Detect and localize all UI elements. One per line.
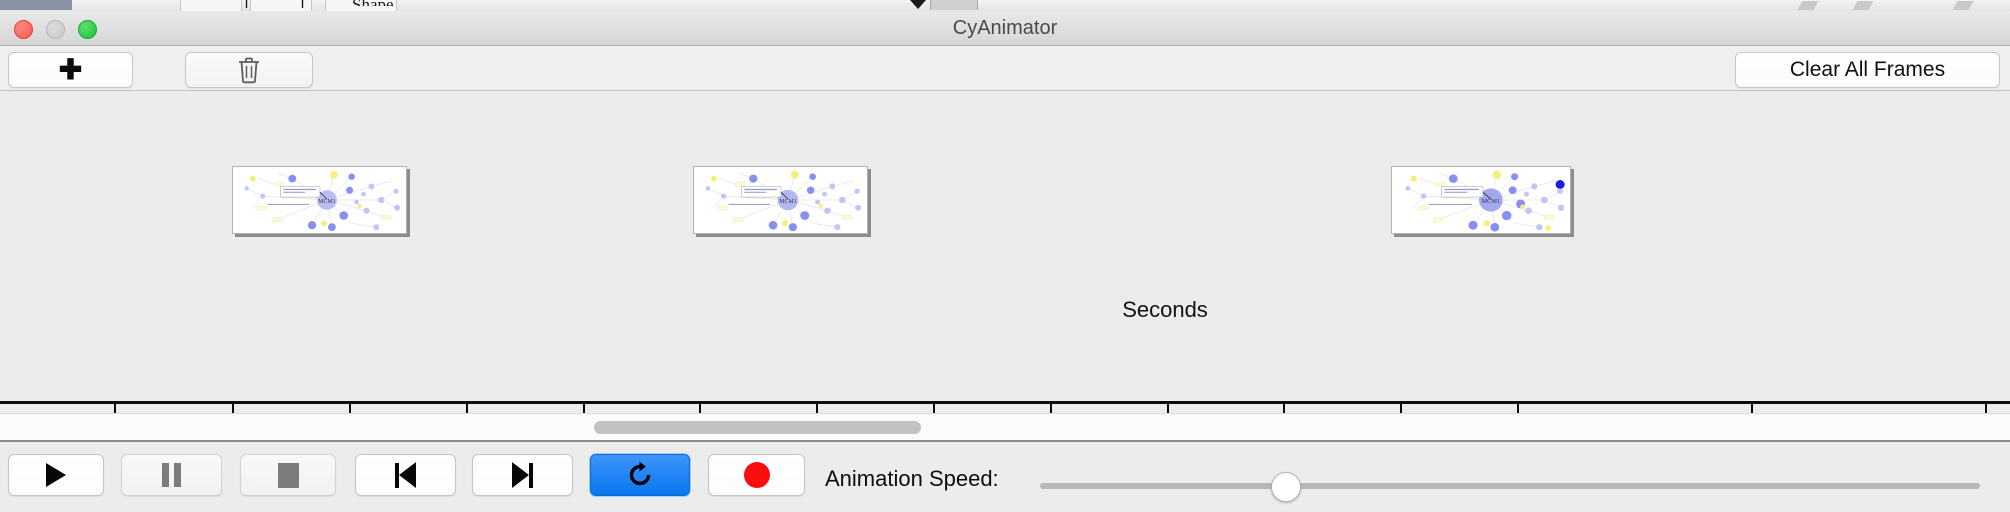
axis-minor-tick: [1050, 404, 1052, 413]
trash-icon: [237, 56, 261, 84]
background-tab: [180, 0, 242, 11]
axis-major-tick: [1400, 404, 1402, 413]
background-slash: [1798, 1, 1819, 10]
axis-minor-tick: [1751, 404, 1753, 413]
axis-minor-tick: [349, 404, 351, 413]
axis-title: Seconds: [1122, 297, 1208, 323]
timeline-panel[interactable]: MCM1: [0, 91, 2010, 413]
background-window-label: Shape: [352, 0, 394, 6]
background-slash: [1953, 1, 1974, 10]
loop-button[interactable]: [590, 454, 690, 496]
background-glyph: I: [300, 0, 305, 8]
record-icon: [744, 462, 770, 488]
axis-major-tick: [1167, 404, 1169, 413]
skip-back-icon: [395, 462, 416, 488]
delete-frame-button[interactable]: [185, 52, 313, 88]
playback-control-bar: Animation Speed:: [0, 440, 2010, 512]
loop-icon: [625, 460, 655, 490]
add-frame-button[interactable]: ✚: [8, 52, 133, 88]
background-greybox: [930, 0, 978, 10]
pause-icon: [162, 463, 181, 487]
network-thumbnail: MCM1: [1392, 167, 1570, 233]
axis-major-tick: [466, 404, 468, 413]
network-thumbnail: MCM1: [233, 167, 406, 233]
title-bar: CyAnimator: [0, 11, 2010, 46]
background-arrow-icon: [910, 0, 926, 9]
stop-icon: [278, 463, 299, 488]
scrollbar-thumb[interactable]: [594, 421, 921, 434]
next-frame-button[interactable]: [472, 454, 573, 496]
record-button[interactable]: [708, 454, 805, 496]
timeline-axis: [0, 401, 2010, 404]
axis-minor-tick: [1985, 404, 1987, 413]
background-titlebar-block: [0, 0, 72, 10]
timeline-frame[interactable]: MCM1: [1391, 166, 1571, 234]
timeline-frame[interactable]: MCM1: [693, 166, 868, 234]
highlight-node: [1556, 180, 1565, 189]
axis-minor-tick: [114, 404, 116, 413]
window-title: CyAnimator: [0, 17, 2010, 40]
play-icon: [46, 463, 66, 487]
animation-speed-label: Animation Speed:: [825, 466, 999, 492]
axis-minor-tick: [816, 404, 818, 413]
center-node-label: MCM1: [779, 199, 796, 205]
play-button[interactable]: [8, 454, 104, 496]
timeline-scrollbar[interactable]: [0, 413, 2010, 441]
axis-minor-tick: [583, 404, 585, 413]
network-thumbnail: MCM1: [694, 167, 867, 233]
axis-minor-tick: [1517, 404, 1519, 413]
animation-speed-slider-thumb[interactable]: [1271, 472, 1301, 502]
frame-toolbar: ✚ Clear All Frames: [0, 46, 2010, 91]
center-node-label: MCM1: [318, 199, 335, 205]
cyanimator-window: I I Shape CyAnimator ✚ Clear All Frames: [0, 0, 2010, 510]
stop-button[interactable]: [240, 454, 336, 496]
animation-speed-slider[interactable]: [1040, 483, 1980, 489]
skip-forward-icon: [512, 462, 533, 488]
clear-all-frames-button[interactable]: Clear All Frames: [1735, 52, 2000, 88]
previous-frame-button[interactable]: [355, 454, 456, 496]
background-slash: [1853, 1, 1874, 10]
background-glyph: I: [244, 0, 249, 8]
axis-major-tick: [699, 404, 701, 413]
timeline-frame[interactable]: MCM1: [232, 166, 407, 234]
axis-major-tick: [933, 404, 935, 413]
plus-icon: ✚: [59, 56, 82, 84]
axis-major-tick: [232, 404, 234, 413]
pause-button[interactable]: [121, 454, 222, 496]
axis-minor-tick: [1283, 404, 1285, 413]
